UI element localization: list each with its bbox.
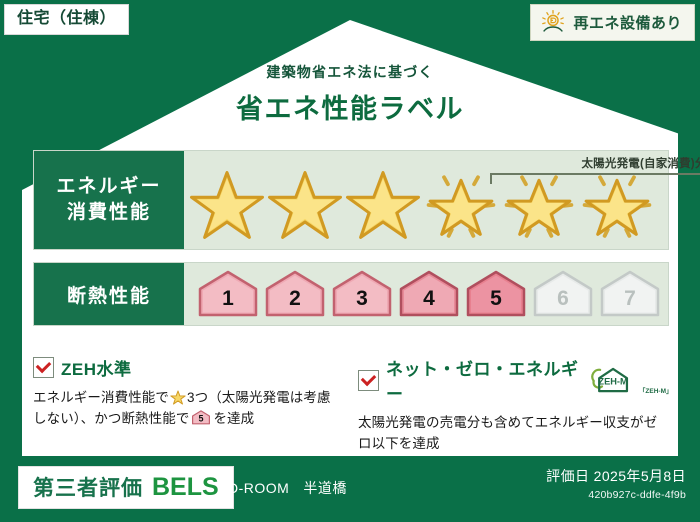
label-root: 住宅（住棟） 再エネ設備あり 建築物省エネ法に基づく bbox=[0, 0, 700, 522]
property-name: D-ROOM半道橋 bbox=[228, 478, 347, 498]
insulation-level-value: 2 bbox=[289, 287, 301, 310]
zeh-standard-title: ZEH水準 bbox=[61, 355, 132, 380]
bels-certification-plate: 第三者評価 BELS bbox=[18, 466, 234, 509]
energy-label-line2: 消費性能 bbox=[67, 200, 151, 226]
zeh-m-logo-text: ZEH-M bbox=[598, 377, 628, 387]
insulation-level-value: 5 bbox=[490, 287, 502, 310]
star-icon bbox=[344, 168, 422, 242]
insulation-level-value: 7 bbox=[624, 287, 636, 310]
insulation-level-value: 6 bbox=[557, 287, 569, 310]
insulation-house-icon: 1 bbox=[196, 269, 260, 319]
insulation-level-value: 1 bbox=[222, 287, 234, 310]
evaluation-date: 評価日 2025年5月8日 bbox=[546, 466, 686, 486]
title-main: 省エネ性能ラベル bbox=[0, 87, 700, 126]
property-brand: D-ROOM bbox=[228, 480, 289, 496]
house-icon-inline: 5 bbox=[191, 410, 211, 425]
insulation-level-value: 3 bbox=[356, 287, 368, 310]
insulation-performance-body: 1 2 3 4 bbox=[184, 263, 668, 325]
net-zero-energy-description: 太陽光発電の売電分も含めてエネルギー収支がゼロ以下を達成 bbox=[358, 412, 670, 455]
dwelling-type-label: 住宅（住棟） bbox=[17, 10, 116, 27]
energy-performance-row: エネルギー 消費性能 太陽光発電(自家消費)分 bbox=[33, 150, 669, 250]
insulation-performance-label: 断熱性能 bbox=[34, 263, 184, 325]
evaluation-date-value: 2025年5月8日 bbox=[594, 468, 686, 484]
energy-performance-body: 太陽光発電(自家消費)分 bbox=[184, 151, 668, 249]
star-icon bbox=[266, 168, 344, 242]
insulation-house-icon: 2 bbox=[263, 269, 327, 319]
third-party-label: 第三者評価 bbox=[33, 472, 143, 502]
solar-share-note: 太陽光発電(自家消費)分 bbox=[484, 155, 700, 171]
zeh-standard-description: エネルギー消費性能で3つ（太陽光発電は考慮しない）、かつ断熱性能で5を達成 bbox=[33, 387, 333, 430]
insulation-label-text: 断熱性能 bbox=[67, 281, 151, 308]
inline-house-value: 5 bbox=[199, 414, 204, 424]
energy-label-line1: エネルギー bbox=[56, 174, 161, 200]
star-icon-inline bbox=[170, 390, 186, 405]
zeh-desc-part1: エネルギー消費性能で bbox=[33, 390, 169, 405]
property-building: 半道橋 bbox=[303, 480, 347, 496]
zeh-standard-block: ZEH水準 エネルギー消費性能で3つ（太陽光発電は考慮しない）、かつ断熱性能で5… bbox=[33, 355, 333, 430]
insulation-house-icon-inactive: 6 bbox=[531, 269, 595, 319]
star-icon-solar bbox=[422, 168, 500, 242]
insulation-house-icon: 3 bbox=[330, 269, 394, 319]
renewable-badge-label: 再エネ設備あり bbox=[573, 12, 682, 33]
dwelling-type-tag: 住宅（住棟） bbox=[4, 4, 129, 35]
insulation-house-icon: 5 bbox=[464, 269, 528, 319]
footer-bar: 第三者評価 BELS D-ROOM半道橋 評価日 2025年5月8日 420b9… bbox=[0, 456, 700, 522]
renewable-equipment-badge: 再エネ設備あり bbox=[530, 4, 695, 41]
insulation-level-value: 4 bbox=[423, 287, 435, 310]
zeh-desc-part3: を達成 bbox=[213, 411, 254, 426]
insulation-house-icon-inactive: 7 bbox=[598, 269, 662, 319]
net-zero-energy-heading: ネット・ゼロ・エネルギー ZEH-M 「ZEH-M」 bbox=[358, 355, 670, 405]
check-icon bbox=[358, 370, 379, 391]
zeh-standard-heading: ZEH水準 bbox=[33, 355, 333, 380]
evaluation-date-label: 評価日 bbox=[546, 468, 589, 484]
check-icon bbox=[33, 357, 54, 378]
insulation-house-icon: 4 bbox=[397, 269, 461, 319]
certificate-id: 420b927c-ddfe-4f9b bbox=[546, 489, 686, 501]
zeh-m-logo: ZEH-M 「ZEH-M」 bbox=[589, 365, 670, 395]
net-zero-energy-block: ネット・ゼロ・エネルギー ZEH-M 「ZEH-M」 太陽光発電の売電分も含めて… bbox=[358, 355, 670, 455]
title-block: 建築物省エネ法に基づく 省エネ性能ラベル bbox=[0, 62, 700, 126]
sun-icon bbox=[540, 9, 566, 35]
zeh-m-logo-sublabel: 「ZEH-M」 bbox=[639, 385, 670, 395]
net-zero-energy-title: ネット・ゼロ・エネルギー bbox=[386, 355, 581, 405]
evaluation-info: 評価日 2025年5月8日 420b927c-ddfe-4f9b bbox=[546, 466, 686, 501]
title-subtitle: 建築物省エネ法に基づく bbox=[0, 62, 700, 82]
star-icon bbox=[188, 168, 266, 242]
bels-logo: BELS bbox=[152, 473, 219, 502]
insulation-performance-row: 断熱性能 1 2 3 bbox=[33, 262, 669, 326]
energy-performance-label: エネルギー 消費性能 bbox=[34, 151, 184, 249]
solar-share-bracket bbox=[490, 173, 700, 184]
